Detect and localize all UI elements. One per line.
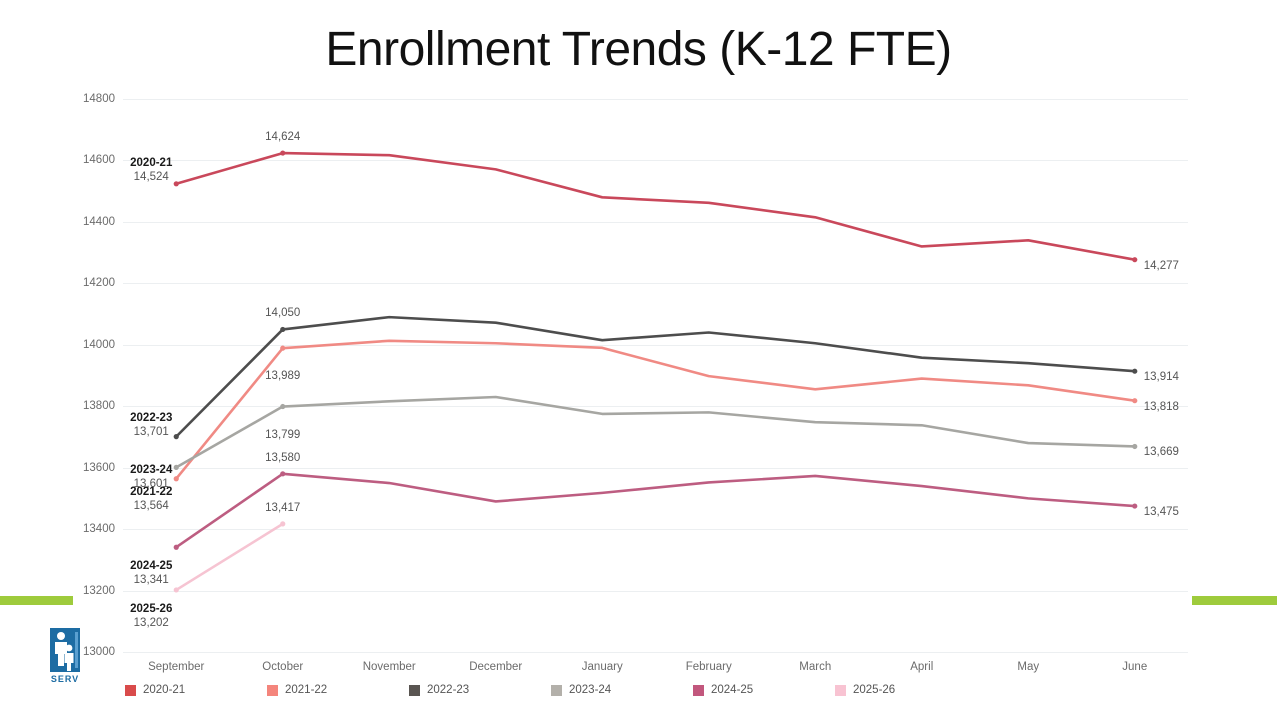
legend-item-2022-23[interactable]: 2022-23: [409, 684, 469, 696]
legend-label: 2023-24: [569, 684, 611, 696]
legend-swatch-icon: [551, 685, 562, 696]
series-start-value: 13,564: [130, 499, 172, 513]
series-peak-label-2025-26: 13,417: [265, 502, 300, 514]
series-end-label-2022-23: 13,914: [1144, 371, 1179, 383]
legend-label: 2021-22: [285, 684, 327, 696]
slide-canvas: Enrollment Trends (K-12 FTE) SERV 148001…: [0, 0, 1277, 718]
series-end-label-2023-24: 13,669: [1144, 446, 1179, 458]
legend-item-2020-21[interactable]: 2020-21: [125, 684, 185, 696]
series-line-2024-25: [176, 474, 1135, 547]
legend-item-2024-25[interactable]: 2024-25: [693, 684, 753, 696]
data-point-marker: [1132, 257, 1137, 262]
legend-swatch-icon: [693, 685, 704, 696]
data-point-marker: [280, 327, 285, 332]
data-point-marker: [280, 150, 285, 155]
series-start-value: 13,601: [130, 477, 172, 491]
legend-swatch-icon: [125, 685, 136, 696]
series-line-2025-26: [176, 524, 283, 590]
series-start-value: 13,701: [130, 425, 172, 439]
data-point-marker: [174, 181, 179, 186]
legend-label: 2024-25: [711, 684, 753, 696]
series-start-value: 13,202: [130, 616, 172, 630]
series-start-value: 13,341: [130, 573, 172, 587]
legend-item-2021-22[interactable]: 2021-22: [267, 684, 327, 696]
series-year: 2020-21: [130, 156, 172, 170]
data-point-marker: [1132, 503, 1137, 508]
series-start-label-2020-21: 2020-2114,524: [130, 156, 172, 184]
series-year: 2022-23: [130, 411, 172, 425]
series-line-2023-24: [176, 397, 1135, 467]
legend-swatch-icon: [267, 685, 278, 696]
data-point-marker: [1132, 444, 1137, 449]
series-start-label-2025-26: 2025-2613,202: [130, 602, 172, 630]
series-peak-label-2023-24: 13,799: [265, 429, 300, 441]
data-point-marker: [280, 471, 285, 476]
data-point-marker: [174, 465, 179, 470]
series-peak-label-2022-23: 14,050: [265, 307, 300, 319]
series-year: 2025-26: [130, 602, 172, 616]
series-end-label-2021-22: 13,818: [1144, 401, 1179, 413]
data-point-marker: [174, 476, 179, 481]
series-year: 2024-25: [130, 559, 172, 573]
series-start-value: 14,524: [130, 170, 172, 184]
data-point-marker: [1132, 398, 1137, 403]
data-point-marker: [1132, 369, 1137, 374]
series-line-2022-23: [176, 317, 1135, 437]
data-point-marker: [174, 434, 179, 439]
series-peak-label-2024-25: 13,580: [265, 452, 300, 464]
series-line-2020-21: [176, 153, 1135, 260]
data-point-marker: [280, 404, 285, 409]
series-start-label-2023-24: 2023-2413,601: [130, 463, 172, 491]
enrollment-line-chart: 1480014600144001420014000138001360013400…: [0, 0, 1277, 718]
legend-item-2025-26[interactable]: 2025-26: [835, 684, 895, 696]
legend-label: 2020-21: [143, 684, 185, 696]
legend-label: 2025-26: [853, 684, 895, 696]
series-peak-label-2021-22: 13,989: [265, 370, 300, 382]
series-lines: [0, 0, 1277, 718]
series-end-label-2020-21: 14,277: [1144, 260, 1179, 272]
data-point-marker: [174, 545, 179, 550]
series-start-label-2022-23: 2022-2313,701: [130, 411, 172, 439]
chart-legend: 2020-212021-222022-232023-242024-252025-…: [123, 684, 1188, 702]
series-year: 2023-24: [130, 463, 172, 477]
legend-swatch-icon: [835, 685, 846, 696]
legend-label: 2022-23: [427, 684, 469, 696]
legend-swatch-icon: [409, 685, 420, 696]
data-point-marker: [174, 587, 179, 592]
data-point-marker: [280, 346, 285, 351]
series-end-label-2024-25: 13,475: [1144, 506, 1179, 518]
data-point-marker: [280, 521, 285, 526]
series-start-label-2024-25: 2024-2513,341: [130, 559, 172, 587]
series-peak-label-2020-21: 14,624: [265, 131, 300, 143]
legend-item-2023-24[interactable]: 2023-24: [551, 684, 611, 696]
